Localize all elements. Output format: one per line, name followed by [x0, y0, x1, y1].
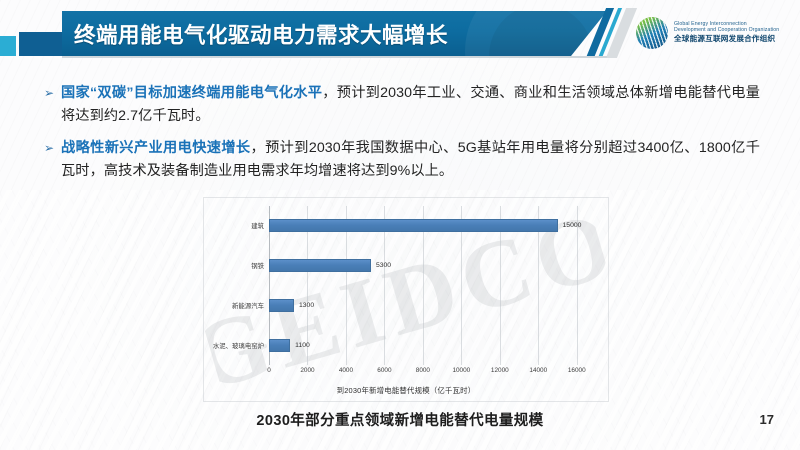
bullet-list: ➢ 国家“双碳”目标加速终端用能电气化水平，预计到2030年工业、交通、商业和生…: [44, 82, 760, 192]
chart-plot-area: 建筑15000钢铁5300新能源汽车1300水泥、玻璃电窑炉1100: [269, 206, 596, 365]
chart-x-tick-label: 8000: [416, 367, 430, 374]
chart-category-label: 建筑: [251, 221, 264, 230]
bullet-highlight: 战略性新兴产业用电快速增长: [61, 140, 251, 156]
chart-category-label: 水泥、玻璃电窑炉: [213, 341, 264, 350]
header-title-bar: 终端用能电气化驱动电力需求大幅增长: [62, 11, 607, 56]
chart-x-tick-label: 4000: [339, 367, 353, 374]
logo-text-block: Global Energy Interconnection Developmen…: [674, 22, 779, 44]
chart-x-tick-label: 6000: [377, 367, 391, 374]
bullet-text: 国家“双碳”目标加速终端用能电气化水平，预计到2030年工业、交通、商业和生活领…: [61, 82, 760, 127]
slide-header: 终端用能电气化驱动电力需求大幅增长 Global Energy Intercon…: [0, 0, 800, 62]
bullet-text: 战略性新兴产业用电快速增长，预计到2030年我国数据中心、5G基站年用电量将分别…: [61, 137, 760, 182]
logo-english-line-2: Development and Cooperation Organization: [674, 28, 779, 34]
header-underline: [62, 56, 607, 58]
chart-x-tick-label: 16000: [568, 367, 586, 374]
bullet-item: ➢ 战略性新兴产业用电快速增长，预计到2030年我国数据中心、5G基站年用电量将…: [44, 137, 760, 182]
chart-category-label: 新能源汽车: [232, 301, 264, 310]
chart-x-tick-label: 10000: [452, 367, 470, 374]
page-number: 17: [760, 412, 774, 427]
chart-bar-row: 钢铁5300: [269, 259, 596, 273]
bar-chart: GEIDCO 建筑15000钢铁5300新能源汽车1300水泥、玻璃电窑炉110…: [203, 197, 609, 402]
chart-bar-row: 新能源汽车1300: [269, 298, 596, 312]
slide-root: 终端用能电气化驱动电力需求大幅增长 Global Energy Intercon…: [0, 0, 800, 450]
chart-bar: [269, 259, 371, 272]
header-accent-chip-dark: [19, 32, 63, 56]
chart-bar-value-label: 1100: [295, 342, 310, 349]
header-accent-chip-light: [0, 36, 16, 56]
bullet-highlight: 国家“双碳”目标加速终端用能电气化水平: [61, 85, 322, 101]
chart-x-axis-ticks: 0200040006000800010000120001400016000: [269, 367, 596, 379]
bullet-arrow-icon: ➢: [44, 82, 61, 104]
logo-chinese-line: 全球能源互联网发展合作组织: [674, 35, 779, 44]
chart-bar-value-label: 1300: [299, 302, 314, 309]
chart-bar: [269, 299, 294, 312]
chart-category-label: 钢铁: [251, 261, 264, 270]
bullet-item: ➢ 国家“双碳”目标加速终端用能电气化水平，预计到2030年工业、交通、商业和生…: [44, 82, 760, 127]
chart-x-tick-label: 12000: [491, 367, 509, 374]
chart-caption: 2030年部分重点领域新增电能替代电量规模: [0, 409, 800, 430]
globe-icon: [636, 17, 668, 49]
chart-bar-value-label: 15000: [563, 222, 582, 229]
chart-bar-value-label: 5300: [376, 262, 391, 269]
chart-bar-row: 水泥、玻璃电窑炉1100: [269, 338, 596, 352]
page-title: 终端用能电气化驱动电力需求大幅增长: [74, 18, 448, 49]
organization-logo: Global Energy Interconnection Developmen…: [636, 14, 796, 52]
chart-bar: [269, 339, 290, 352]
chart-x-tick-label: 0: [267, 367, 271, 374]
chart-bar-row: 建筑15000: [269, 219, 596, 233]
chart-x-tick-label: 14000: [529, 367, 547, 374]
chart-x-tick-label: 2000: [300, 367, 314, 374]
chart-x-axis-title: 到2030年新增电能替代规模（亿千瓦时）: [204, 385, 608, 396]
bullet-arrow-icon: ➢: [44, 137, 61, 159]
chart-bar: [269, 219, 558, 232]
chart-bar-rows: 建筑15000钢铁5300新能源汽车1300水泥、玻璃电窑炉1100: [269, 206, 596, 365]
